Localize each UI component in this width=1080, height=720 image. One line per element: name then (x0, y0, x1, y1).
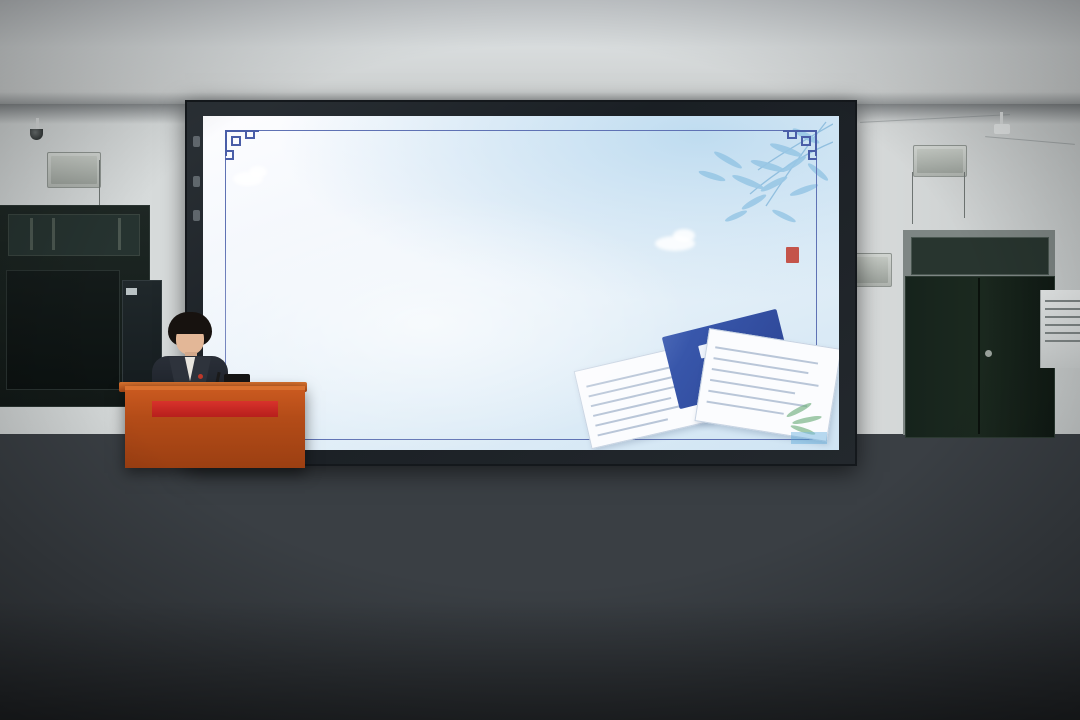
fret-corner-top-left (225, 130, 271, 164)
slide-title (203, 174, 839, 221)
wall-speaker-icon (47, 152, 101, 188)
tower-led-icon (126, 288, 137, 295)
speaker-wire (964, 172, 965, 218)
seal-stamp-icon (786, 247, 799, 263)
audience (0, 330, 1080, 720)
wall-speaker-icon (913, 145, 967, 177)
door-transom (911, 237, 1049, 275)
bezel-button-icon[interactable] (193, 176, 200, 187)
lecture-hall-photo (0, 0, 1080, 720)
bezel-button-icon[interactable] (193, 210, 200, 221)
bezel-button-icon[interactable] (193, 136, 200, 147)
fret-corner-top-right (771, 130, 817, 164)
cabinet-grill (52, 218, 55, 250)
security-camera-icon (994, 124, 1010, 134)
cabinet-grill (30, 218, 33, 250)
speaker-wire (912, 172, 913, 224)
cabinet-grill (118, 218, 121, 250)
